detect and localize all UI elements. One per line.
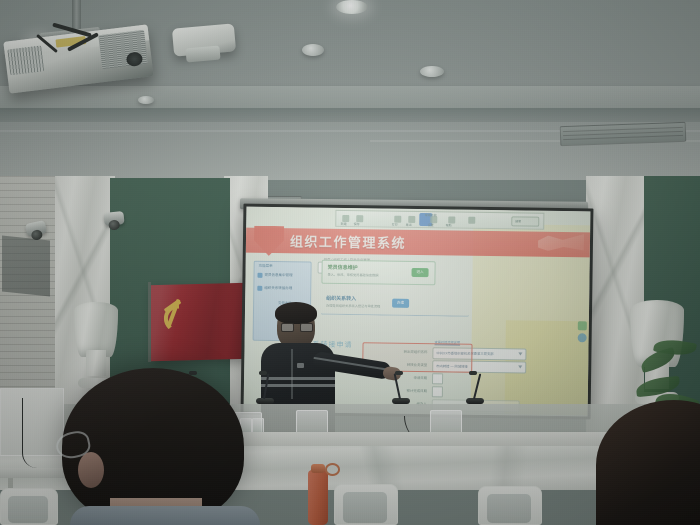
chair: [478, 488, 540, 525]
presenter-jacket-logo: [297, 363, 304, 368]
cable: [22, 398, 37, 468]
card-action-button[interactable]: 进入: [411, 268, 428, 277]
projector-lens: [126, 51, 144, 67]
app-title: 组织工作管理系统: [290, 231, 406, 252]
checkbox-icon[interactable]: [257, 286, 262, 291]
chevron-down-icon[interactable]: [518, 352, 522, 355]
cpc-flag: [149, 283, 249, 362]
wireless-access-point-base: [185, 46, 220, 63]
side-widget-green-icon[interactable]: [578, 321, 587, 330]
toolbar-item-label[interactable]: 保存: [354, 222, 360, 226]
vase-left: [74, 302, 118, 388]
field-date-apply[interactable]: [432, 373, 443, 384]
checkbox-icon[interactable]: [257, 273, 262, 278]
chair: [334, 486, 396, 525]
sidebar-title: 功能菜单: [259, 264, 273, 269]
wall-speaker: [2, 235, 50, 296]
card-heading: 组织关系转入: [326, 295, 356, 302]
photo-scene: 新建 保存 打印 导出 设置 帮助 常用功能 搜索 组织工作管理系统: [0, 0, 700, 525]
downlight: [336, 0, 368, 14]
card-heading: 党员信息维护: [328, 264, 358, 271]
presenter-zipper: [291, 349, 293, 399]
water-bottle: [308, 470, 328, 525]
sidebar-item-0[interactable]: 党员信息集中管理: [257, 271, 307, 281]
ceiling-soffit: [0, 86, 700, 108]
presenter-hair: [275, 302, 317, 324]
card-subtext: 录入、修改、审核党员基础信息数据: [327, 272, 378, 278]
side-widget-blue-icon[interactable]: [578, 333, 587, 342]
toolbar-item-label[interactable]: 新建: [341, 222, 347, 226]
security-camera: [103, 211, 124, 226]
smoke-detector: [420, 66, 444, 77]
water-bottle-cap: [311, 464, 325, 473]
audience-shoulder: [70, 506, 260, 525]
toolbar-search-placeholder: 搜索: [515, 219, 521, 223]
banner-arrow-shape: [254, 226, 284, 256]
water-bottle-handle: [325, 463, 340, 476]
toolbar-item-label[interactable]: 设置: [428, 223, 434, 227]
flag-pole: [148, 282, 151, 362]
form-row-3: 预计完成日期: [372, 385, 527, 398]
presenter-glasses: [281, 323, 311, 330]
toolbar-item-label[interactable]: 导出: [406, 223, 412, 227]
toolbar-group-label: 常用功能: [425, 213, 437, 217]
toolbar-item-label[interactable]: 打印: [392, 223, 398, 227]
toolbar-search-box[interactable]: 搜索: [511, 216, 539, 226]
smoke-detector: [138, 96, 154, 104]
audience-ear: [78, 452, 104, 488]
projector-vent: [7, 45, 44, 75]
chevron-down-icon[interactable]: [518, 365, 522, 368]
smoke-detector: [302, 44, 324, 56]
sidebar-item-label: 组织关系转接办理: [264, 286, 292, 291]
toolbar-item-label[interactable]: 帮助: [446, 223, 452, 227]
card-action-button[interactable]: 办理: [392, 299, 409, 308]
sidebar-item-label: 党员信息集中管理: [264, 273, 292, 278]
ceiling-recess: [0, 108, 700, 122]
sidebar-item-1[interactable]: 组织关系转接办理: [257, 284, 307, 294]
field-date-complete[interactable]: [432, 386, 443, 397]
banner-flag-graphic: [538, 233, 584, 254]
chair: [0, 490, 56, 525]
card-member-info[interactable]: 党员信息维护 录入、修改、审核党员基础信息数据 进入: [321, 260, 435, 286]
application-toolbar[interactable]: 新建 保存 打印 导出 设置 帮助 常用功能 搜索: [336, 210, 545, 230]
